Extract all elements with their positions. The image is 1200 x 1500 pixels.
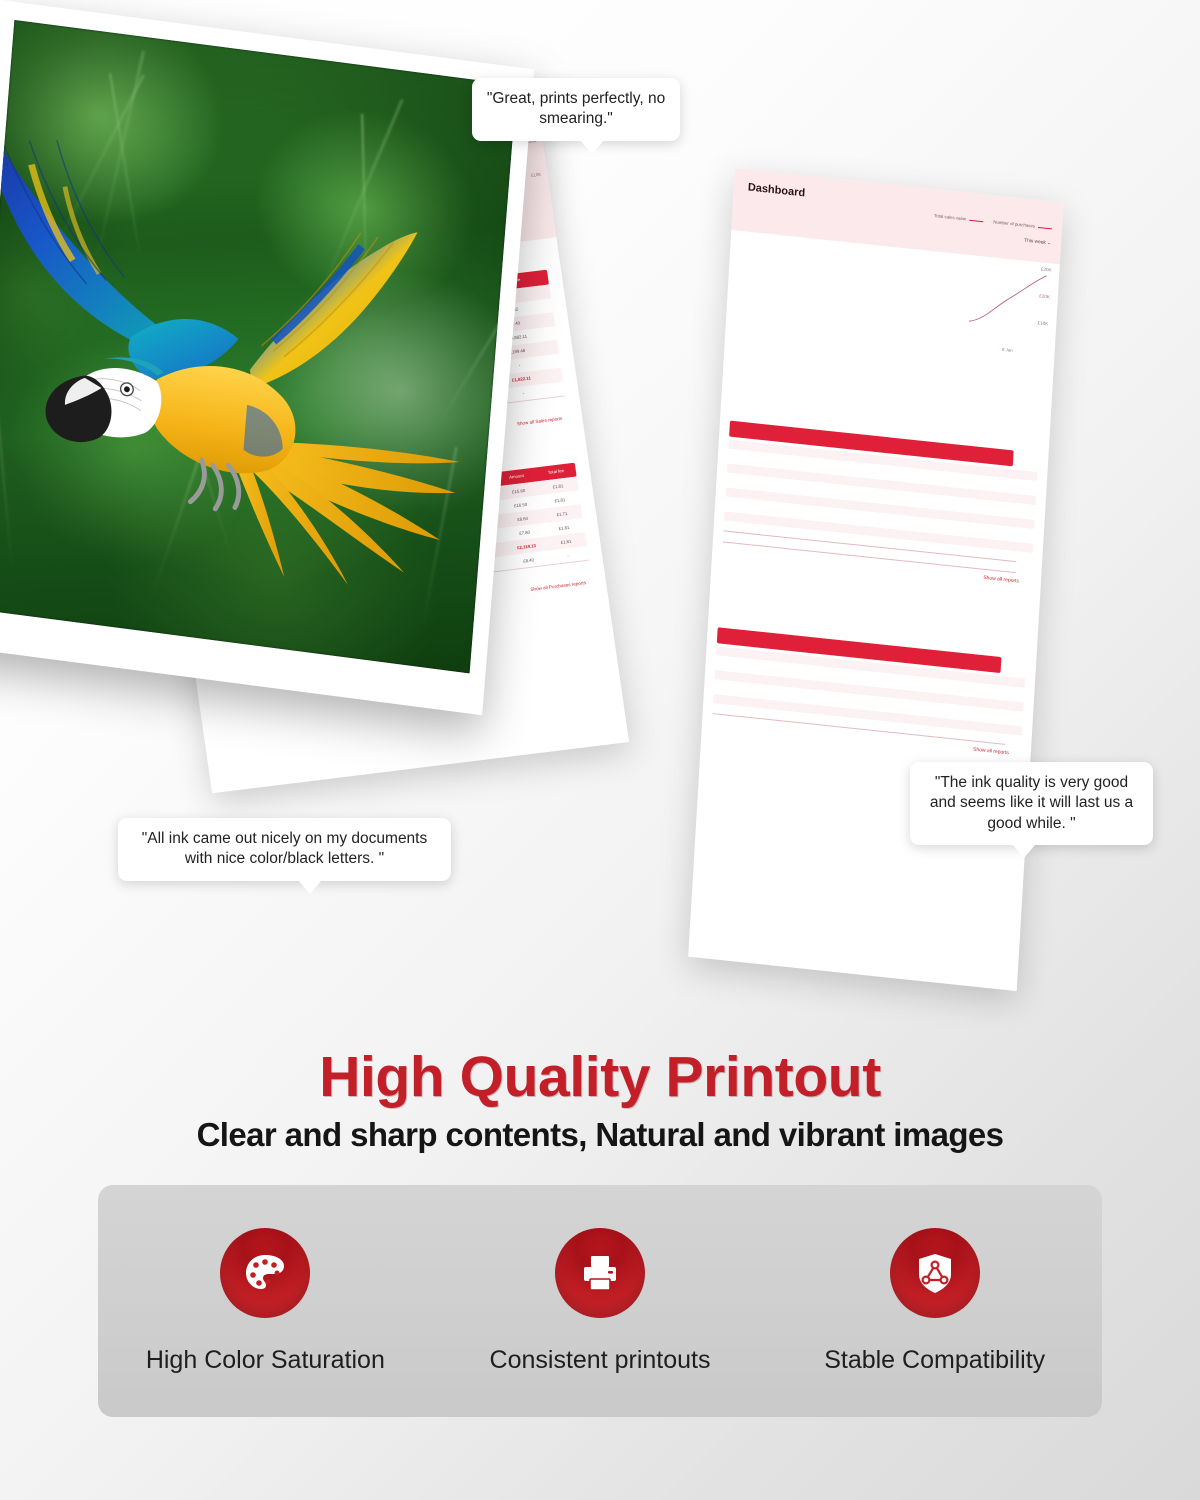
y-tick: £10K <box>531 172 542 178</box>
chevron-down-icon: ⌄ <box>1047 241 1051 246</box>
range-selector[interactable]: This week ⌄ <box>1024 239 1051 247</box>
feature-label: Consistent printouts <box>490 1346 711 1375</box>
testimonial-bubble-right: "The ink quality is very good and seems … <box>910 762 1153 845</box>
feature-stable-compatibility: Stable Compatibility <box>767 1228 1102 1375</box>
macaw-photo <box>0 20 517 673</box>
legend-swatch <box>1038 227 1052 229</box>
poster-canvas: Dashboard 2,395 Number of purchases £1,8… <box>0 0 1200 1500</box>
legend-swatch <box>969 220 983 222</box>
feature-bar: High Color Saturation Consistent printou… <box>98 1185 1102 1417</box>
page-title: High Quality Printout <box>0 1044 1200 1110</box>
macaw-photo-printout <box>0 0 534 715</box>
right-table-block-2: Show all reports <box>712 627 1026 757</box>
right-dashboard-printout: Dashboard Total sales value Number of pu… <box>688 168 1063 991</box>
show-all-reports-link[interactable]: Show all reports <box>722 542 1031 585</box>
right-chart-svg <box>966 255 1050 343</box>
feature-label: High Color Saturation <box>146 1346 385 1375</box>
macaw-bird <box>0 98 517 627</box>
feature-consistent-printouts: Consistent printouts <box>433 1228 768 1375</box>
color-palette-icon <box>220 1228 310 1318</box>
testimonial-bubble-left: "All ink came out nicely on my documents… <box>118 818 451 881</box>
feature-label: Stable Compatibility <box>824 1346 1045 1375</box>
macaw-front-wing <box>248 212 417 407</box>
right-sheet-content: Dashboard Total sales value Number of pu… <box>688 168 1063 991</box>
macaw-back-wing <box>0 124 169 349</box>
right-table-block-1: Show all reports <box>722 421 1039 586</box>
right-dashboard-title: Dashboard <box>748 181 1049 225</box>
macaw-head <box>43 346 164 451</box>
right-chart-x-tick: 8 Jan <box>1002 347 1013 353</box>
printer-icon <box>555 1228 645 1318</box>
page-subtitle: Clear and sharp contents, Natural and vi… <box>0 1116 1200 1154</box>
shield-compatibility-icon <box>890 1228 980 1318</box>
right-dashboard-header: Dashboard Total sales value Number of pu… <box>731 168 1063 264</box>
feature-high-color-saturation: High Color Saturation <box>98 1228 433 1375</box>
testimonial-bubble-top: "Great, prints perfectly, no smearing." <box>472 78 680 141</box>
